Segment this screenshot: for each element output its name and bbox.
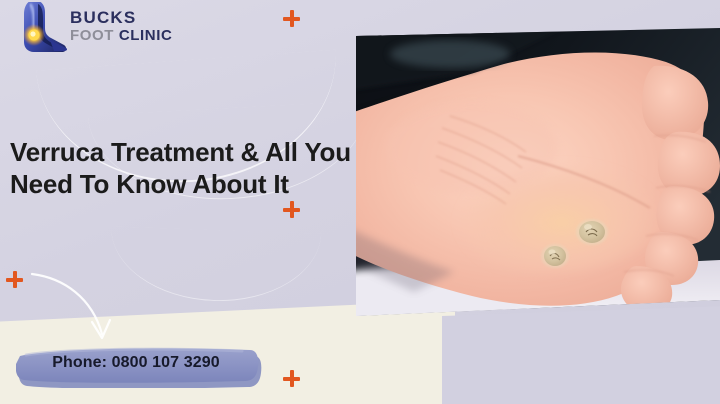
brand-logo-text: BUCKS FOOT CLINIC	[70, 8, 172, 44]
foot-sole-verruca-photo	[354, 28, 720, 316]
slide-canvas: BUCKS FOOT CLINIC Verruca Treatment & Al…	[0, 0, 720, 404]
plus-icon	[283, 10, 300, 27]
foot-xray-icon	[14, 2, 70, 58]
page-title: Verruca Treatment & All You Need To Know…	[10, 136, 355, 200]
phone-number-label[interactable]: Phone: 0800 107 3290	[16, 354, 256, 372]
brand-word-foot: FOOT	[70, 27, 114, 44]
brand-word-clinic: CLINIC	[119, 27, 173, 44]
swoosh-line-icon	[109, 226, 321, 304]
brand-logo[interactable]: BUCKS FOOT CLINIC	[14, 2, 204, 60]
lavender-angled-panel	[442, 306, 720, 404]
curved-arrow-icon	[30, 272, 125, 352]
plus-icon	[6, 271, 23, 288]
brand-line2: FOOT CLINIC	[70, 27, 172, 44]
brand-line1: BUCKS	[70, 8, 172, 27]
plus-icon	[283, 201, 300, 218]
